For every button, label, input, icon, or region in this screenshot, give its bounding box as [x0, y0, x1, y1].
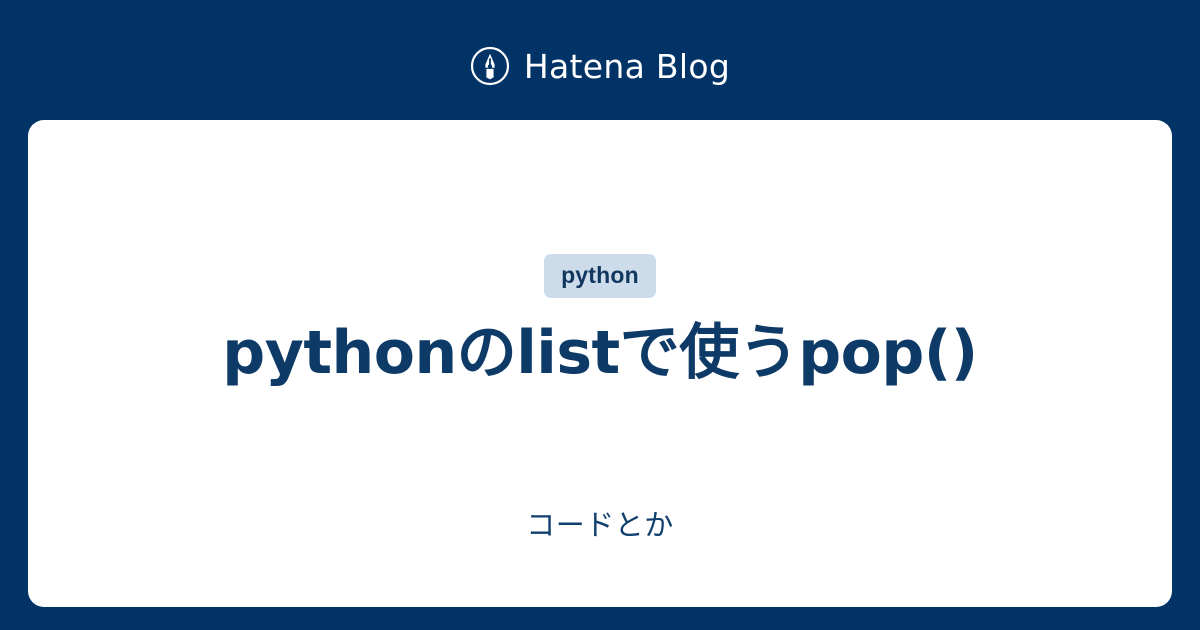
entry-block: python pythonのlistで使うpop() コードとか [28, 120, 1172, 607]
entry-card: python pythonのlistで使うpop() コードとか [28, 120, 1172, 607]
entry-title: pythonのlistで使うpop() [222, 318, 977, 389]
hatena-blog-og-card: Hatena Blog python pythonのlistで使うpop() コ… [0, 0, 1200, 630]
blog-title-row: コードとか [28, 508, 1172, 543]
entry-title-row: pythonのlistで使うpop() [28, 318, 1172, 389]
pen-nib-in-circle-icon [470, 46, 510, 86]
brand-header: Hatena Blog [0, 40, 1200, 92]
entry-tag-list: python [28, 254, 1172, 298]
brand-name: Hatena Blog [524, 50, 730, 83]
blog-title: コードとか [526, 508, 674, 543]
entry-tag-python[interactable]: python [544, 254, 656, 298]
